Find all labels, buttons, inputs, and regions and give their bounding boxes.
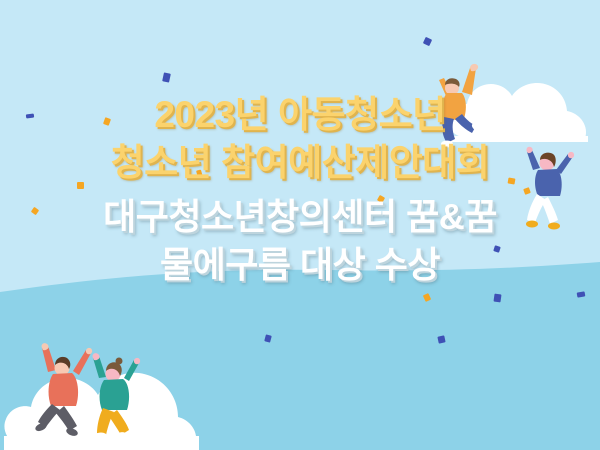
confetti-piece xyxy=(77,182,84,189)
confetti-piece xyxy=(508,177,516,184)
confetti-piece xyxy=(437,335,445,343)
illustration-layer xyxy=(0,0,600,450)
figure-jumping-blue xyxy=(526,147,574,230)
confetti-piece xyxy=(493,294,501,303)
poster-canvas: 2023년 아동청소년 청소년 참여예산제안대회 대구청소년창의센터 꿈&꿈 물… xyxy=(0,0,600,450)
